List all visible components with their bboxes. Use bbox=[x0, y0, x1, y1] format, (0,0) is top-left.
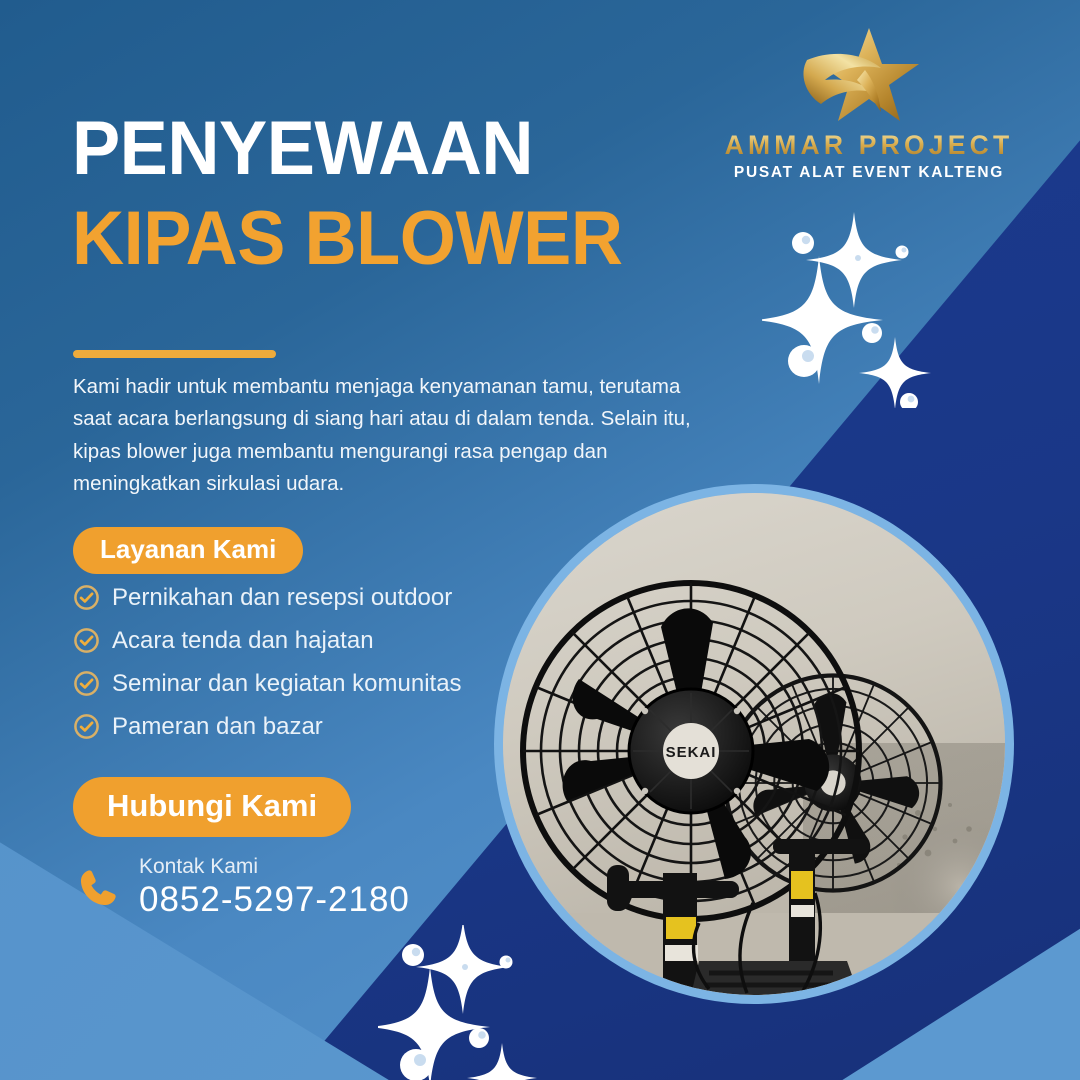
contact-badge: Hubungi Kami bbox=[73, 777, 351, 837]
svg-text:SEKAI: SEKAI bbox=[666, 744, 717, 761]
list-item: Acara tenda dan hajatan bbox=[73, 620, 462, 661]
page-title: PENYEWAAN KIPAS BLOWER bbox=[72, 112, 651, 277]
brand-name: AMMAR PROJECT bbox=[704, 130, 1034, 161]
phone-icon bbox=[76, 866, 120, 910]
check-circle-icon bbox=[73, 670, 100, 697]
contact-label: Kontak Kami bbox=[139, 855, 410, 879]
accent-divider bbox=[73, 350, 276, 358]
headline-line-2: KIPAS BLOWER bbox=[72, 202, 623, 276]
check-circle-icon bbox=[73, 713, 100, 740]
list-item: Seminar dan kegiatan komunitas bbox=[73, 663, 462, 704]
headline-line-1: PENYEWAAN bbox=[72, 112, 623, 186]
contact-block[interactable]: Kontak Kami 0852-5297-2180 bbox=[76, 855, 410, 921]
services-badge: Layanan Kami bbox=[73, 527, 303, 574]
list-item-label: Seminar dan kegiatan komunitas bbox=[112, 672, 462, 696]
list-item-label: Pameran dan bazar bbox=[112, 715, 323, 739]
contact-number[interactable]: 0852-5297-2180 bbox=[139, 879, 410, 921]
check-circle-icon bbox=[73, 627, 100, 654]
check-circle-icon bbox=[73, 584, 100, 611]
list-item: Pameran dan bazar bbox=[73, 706, 462, 747]
poster-canvas: AMMAR PROJECT PUSAT ALAT EVENT KALTENG P… bbox=[0, 0, 1080, 1080]
industrial-blower-fans-photo: SEKAI bbox=[503, 493, 1005, 995]
list-item: Pernikahan dan resepsi outdoor bbox=[73, 577, 462, 618]
brand-tagline: PUSAT ALAT EVENT KALTENG bbox=[704, 164, 1034, 182]
services-list: Pernikahan dan resepsi outdoor Acara ten… bbox=[73, 577, 462, 749]
list-item-label: Pernikahan dan resepsi outdoor bbox=[112, 586, 452, 610]
intro-paragraph: Kami hadir untuk membantu menjaga kenyam… bbox=[73, 371, 703, 501]
photo-ring: SEKAI bbox=[494, 484, 1014, 1004]
star-swoosh-icon bbox=[704, 24, 1034, 128]
brand-logo: AMMAR PROJECT PUSAT ALAT EVENT KALTENG bbox=[704, 24, 1034, 182]
list-item-label: Acara tenda dan hajatan bbox=[112, 629, 374, 653]
